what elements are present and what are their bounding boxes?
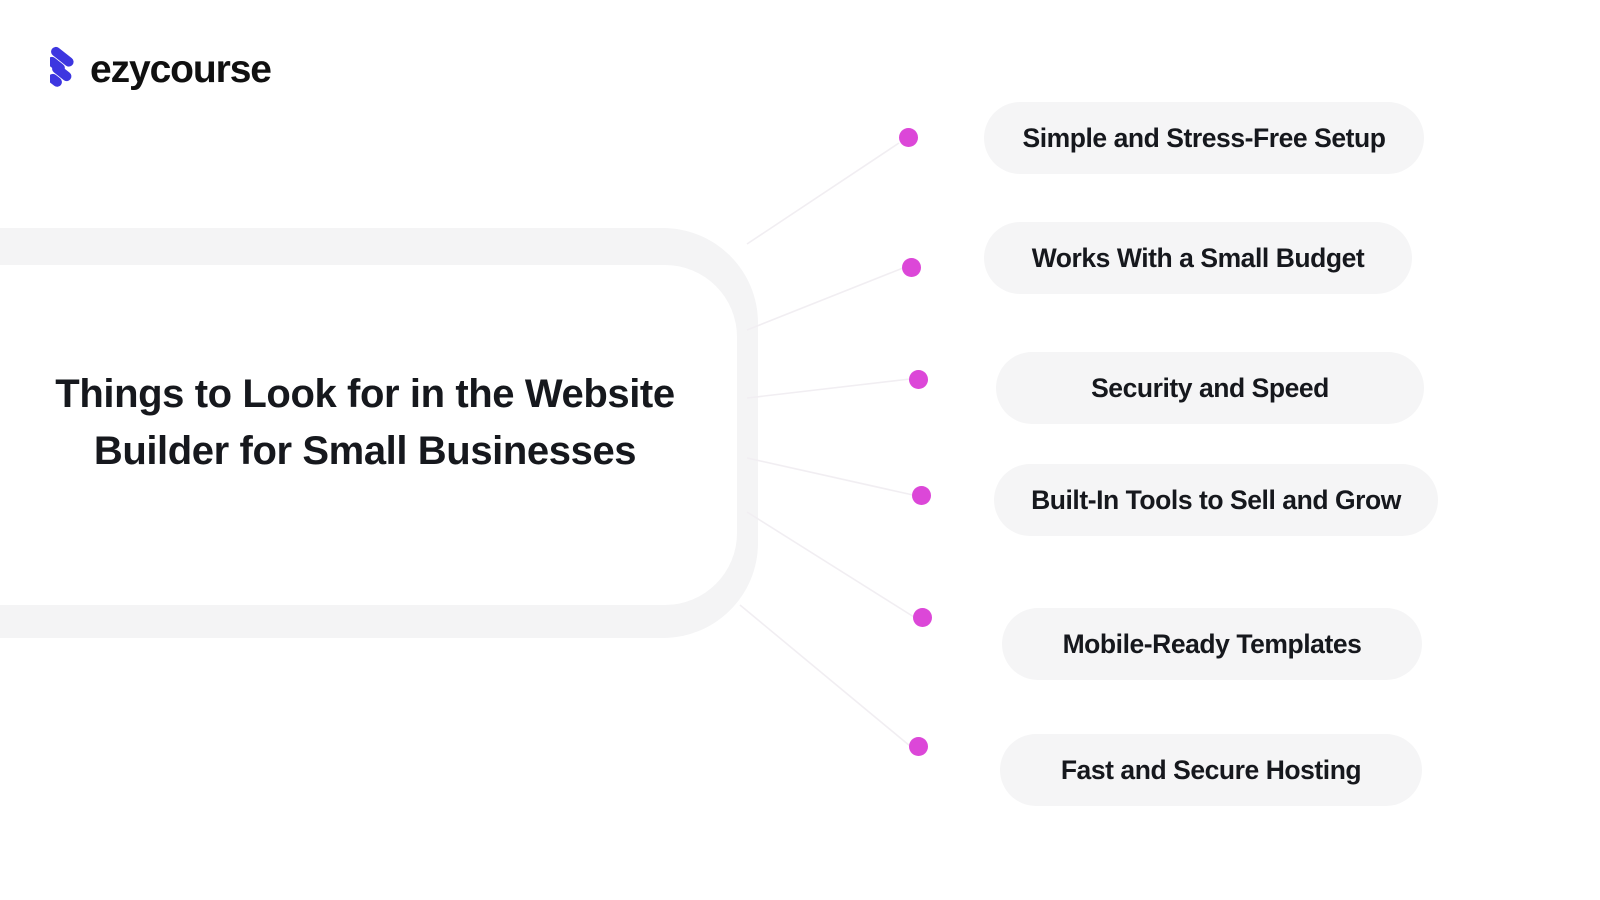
node-pill-label: Mobile-Ready Templates: [1063, 629, 1362, 660]
node-pill-label: Built-In Tools to Sell and Grow: [1031, 485, 1401, 516]
brand-name: ezycourse: [90, 50, 271, 89]
connector-line: [747, 379, 910, 398]
node-pill[interactable]: Built-In Tools to Sell and Grow: [994, 464, 1438, 536]
node-pill[interactable]: Fast and Secure Hosting: [1000, 734, 1422, 806]
node-pill-label: Fast and Secure Hosting: [1061, 755, 1361, 786]
node-pill-label: Simple and Stress-Free Setup: [1023, 123, 1386, 154]
node-pill[interactable]: Security and Speed: [996, 352, 1424, 424]
connector-line: [747, 512, 914, 617]
node-pill[interactable]: Works With a Small Budget: [984, 222, 1412, 294]
node-dot[interactable]: [909, 370, 928, 389]
node-dot[interactable]: [899, 128, 918, 147]
node-dot[interactable]: [902, 258, 921, 277]
connector-line: [747, 268, 903, 330]
connector-line: [747, 143, 899, 244]
page-title-line-1: Things to Look for in the Website: [20, 366, 710, 423]
infographic-canvas: ezycourse Things to Look for in the Webs…: [0, 0, 1600, 900]
node-pill-label: Works With a Small Budget: [1032, 243, 1365, 274]
page-title-line-2: Builder for Small Businesses: [20, 423, 710, 480]
node-dot[interactable]: [909, 737, 928, 756]
ezycourse-slash-bars-icon: [50, 46, 80, 90]
node-dot[interactable]: [913, 608, 932, 627]
node-pill[interactable]: Mobile-Ready Templates: [1002, 608, 1422, 680]
brand-logo: ezycourse: [50, 42, 271, 94]
node-pill[interactable]: Simple and Stress-Free Setup: [984, 102, 1424, 174]
connector-line: [740, 605, 910, 746]
node-dot[interactable]: [912, 486, 931, 505]
page-title: Things to Look for in the Website Builde…: [20, 366, 710, 480]
node-pill-label: Security and Speed: [1091, 373, 1329, 404]
connector-line: [747, 458, 913, 495]
